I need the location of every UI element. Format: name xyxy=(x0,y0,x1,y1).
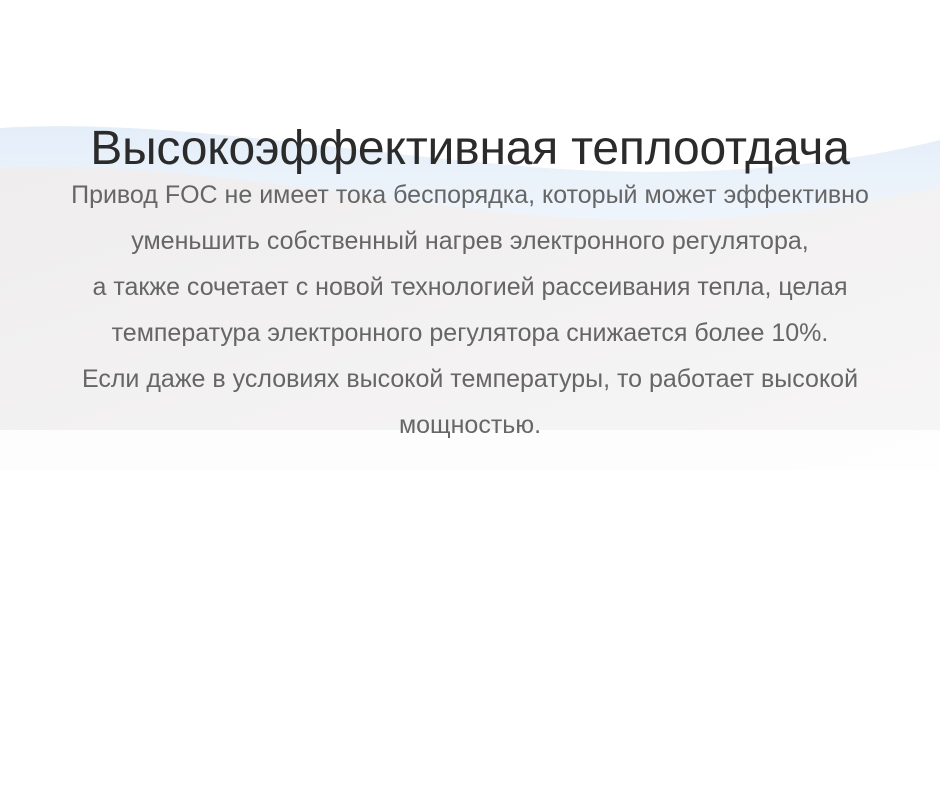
description-block: Привод FOC не имеет тока беспорядка, кот… xyxy=(0,172,940,448)
description-line-5: Если даже в условиях высокой температуры… xyxy=(0,356,940,402)
description-line-1: Привод FOC не имеет тока беспорядка, кот… xyxy=(0,172,940,218)
description-line-2: уменьшить собственный нагрев электронног… xyxy=(0,218,940,264)
heat-dissipation-illustration: Схема теплоотдачи: верхняя крышка-радиат… xyxy=(0,440,940,780)
page-root: Высокоэффективная теплоотдача Привод FOC… xyxy=(0,0,940,799)
description-line-4: температура электронного регулятора сниж… xyxy=(0,310,940,356)
page-title: Высокоэффективная теплоотдача xyxy=(0,120,940,178)
heat-dissipation-diagram: Схема теплоотдачи: верхняя крышка-радиат… xyxy=(0,440,940,780)
description-line-3: а также сочетает с новой технологией рас… xyxy=(0,264,940,310)
